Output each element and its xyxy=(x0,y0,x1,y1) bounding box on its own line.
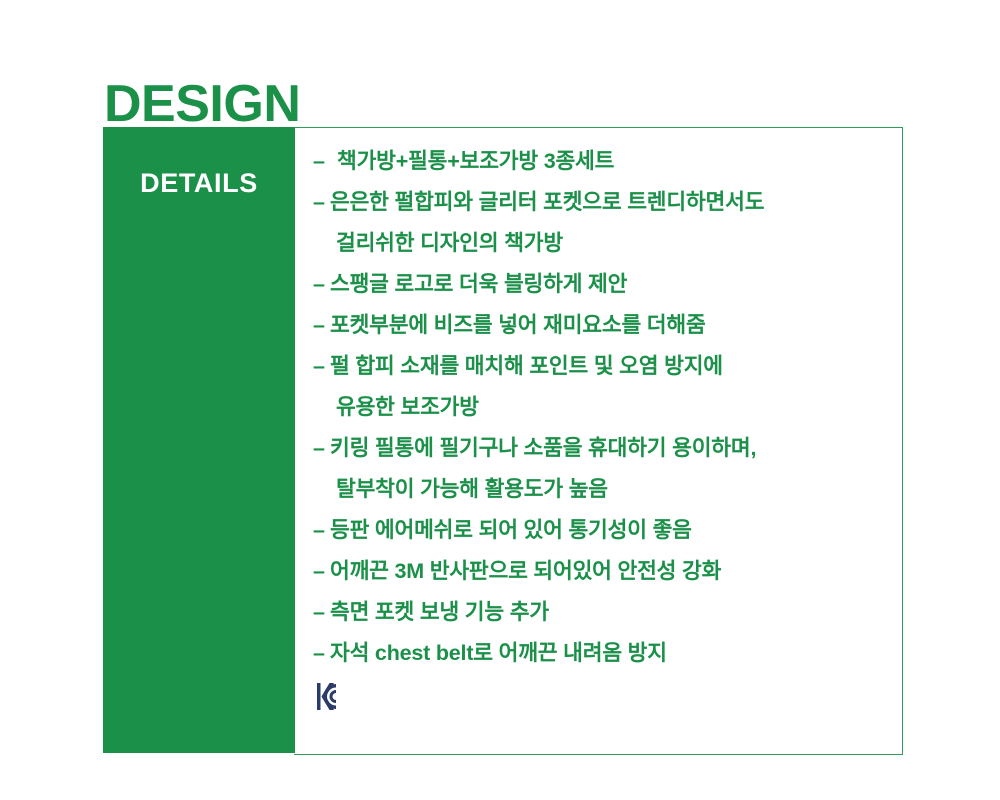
list-item: –책가방+필통+보조가방 3종세트 xyxy=(313,141,889,182)
bullet-dash-icon: – xyxy=(313,305,330,346)
list-item-text: 포켓부분에 비즈를 넣어 재미요소를 더해줌 xyxy=(330,313,706,337)
list-item: –스팽글 로고로 더욱 블링하게 제안 xyxy=(313,264,889,305)
bullet-dash-icon: – xyxy=(313,264,330,305)
list-item-text: 키링 필통에 필기구나 소품을 휴대하기 용이하며, xyxy=(330,436,756,460)
list-item-text: 측면 포켓 보냉 기능 추가 xyxy=(330,600,549,624)
list-item: –펄 합피 소재를 매치해 포인트 및 오염 방지에 xyxy=(313,346,889,387)
details-list: –책가방+필통+보조가방 3종세트 –은은한 펄합피와 글리터 포켓으로 트렌디… xyxy=(313,141,889,755)
page-title: DESIGN xyxy=(104,77,300,132)
list-item-text: 스팽글 로고로 더욱 블링하게 제안 xyxy=(330,272,627,296)
bullet-dash-icon: – xyxy=(313,182,330,223)
bullet-dash-icon: – xyxy=(313,346,330,387)
list-item: –은은한 펄합피와 글리터 포켓으로 트렌디하면서도 xyxy=(313,182,889,223)
list-item: –어깨끈 3M 반사판으로 되어있어 안전성 강화 xyxy=(313,551,889,592)
certification-row xyxy=(313,680,889,713)
list-item-text: 탈부착이 가능해 활용도가 높음 xyxy=(336,477,608,501)
list-item: –포켓부분에 비즈를 넣어 재미요소를 더해줌 xyxy=(313,305,889,346)
details-label: DETAILS xyxy=(103,168,295,199)
list-item: –등판 에어메쉬로 되어 있어 통기성이 좋음 xyxy=(313,510,889,551)
list-item: –측면 포켓 보냉 기능 추가 xyxy=(313,592,889,633)
list-item-text: 등판 에어메쉬로 되어 있어 통기성이 좋음 xyxy=(330,518,692,542)
list-item-text: 펄 합피 소재를 매치해 포인트 및 오염 방지에 xyxy=(330,354,723,378)
list-item-text: 책가방+필통+보조가방 3종세트 xyxy=(337,149,614,173)
details-label-column: DETAILS xyxy=(103,127,295,753)
list-item-continuation: 탈부착이 가능해 활용도가 높음 xyxy=(313,469,889,510)
list-item-continuation: 유용한 보조가방 xyxy=(313,387,889,428)
bullet-dash-icon: – xyxy=(313,141,337,182)
bullet-dash-icon: – xyxy=(313,551,330,592)
bullet-dash-icon: – xyxy=(313,592,330,633)
list-item-continuation: 걸리쉬한 디자인의 책가방 xyxy=(313,223,889,264)
details-panel: DETAILS –책가방+필통+보조가방 3종세트 –은은한 펄합피와 글리터 … xyxy=(103,127,903,755)
list-item-text: 걸리쉬한 디자인의 책가방 xyxy=(336,231,563,255)
list-item: –자석 chest belt로 어깨끈 내려옴 방지 xyxy=(313,633,889,674)
kc-certification-mark-icon xyxy=(316,680,343,713)
list-item: –키링 필통에 필기구나 소품을 휴대하기 용이하며, xyxy=(313,428,889,469)
list-item-text: 어깨끈 3M 반사판으로 되어있어 안전성 강화 xyxy=(330,559,721,583)
list-item-text: 은은한 펄합피와 글리터 포켓으로 트렌디하면서도 xyxy=(330,190,764,214)
bullet-dash-icon: – xyxy=(313,510,330,551)
list-item-text: 유용한 보조가방 xyxy=(336,395,479,419)
bullet-dash-icon: – xyxy=(313,633,330,674)
list-item-text: 자석 chest belt로 어깨끈 내려옴 방지 xyxy=(330,641,667,665)
bullet-dash-icon: – xyxy=(313,428,330,469)
